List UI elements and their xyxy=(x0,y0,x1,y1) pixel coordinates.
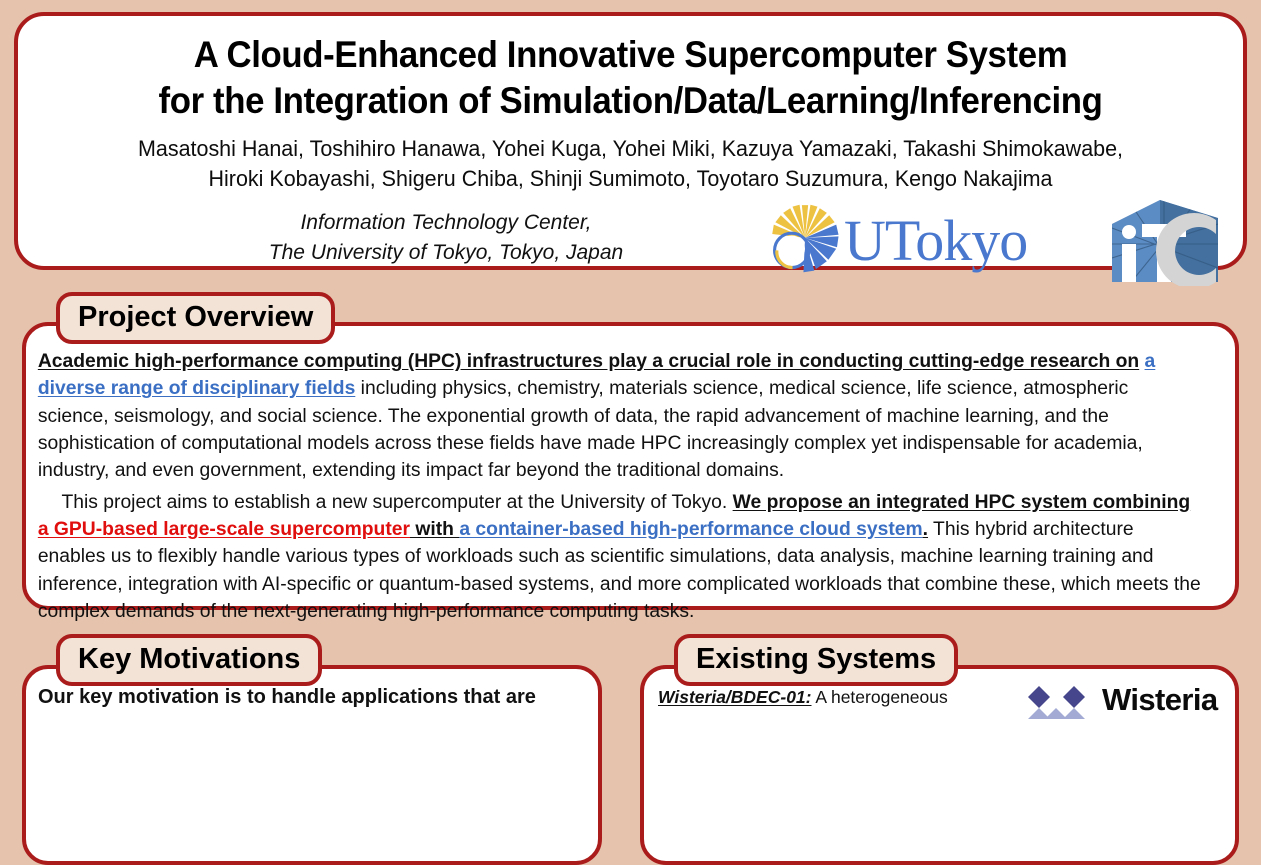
overview-p2-red: a GPU-based large-scale supercomputer xyxy=(38,518,410,540)
title-line-2: for the Integration of Simulation/Data/L… xyxy=(72,78,1190,124)
poster-root: A Cloud-Enhanced Innovative Supercompute… xyxy=(0,0,1261,720)
utokyo-logo: UTokyo xyxy=(766,202,1086,284)
header-panel: A Cloud-Enhanced Innovative Supercompute… xyxy=(14,12,1247,270)
existing-system-name: Wisteria/BDEC-01: xyxy=(658,687,812,707)
overview-p2-blue: a container-based high-performance cloud… xyxy=(459,518,922,540)
overview-p2-bold-2: with xyxy=(410,518,459,540)
section-tab-project-overview: Project Overview xyxy=(56,292,335,344)
poster-title: A Cloud-Enhanced Innovative Supercompute… xyxy=(72,32,1190,124)
affiliation-line-2: The University of Tokyo, Tokyo, Japan xyxy=(166,238,726,268)
wisteria-wordmark: Wisteria xyxy=(1102,680,1218,720)
overview-p1-lead: Academic high-performance computing (HPC… xyxy=(38,350,1139,372)
section-tab-existing-systems: Existing Systems xyxy=(674,634,958,686)
overview-paragraph-1: Academic high-performance computing (HPC… xyxy=(38,348,1203,485)
motivations-line-1: Our key motivation is to handle applicat… xyxy=(38,686,536,708)
itc-logo xyxy=(1098,198,1228,286)
affiliation-line-1: Information Technology Center, xyxy=(166,208,726,238)
existing-systems-panel: Wisteria/BDEC-01: A heterogeneous Wister… xyxy=(640,665,1239,865)
overview-p2-lead: This project aims to establish a new sup… xyxy=(61,491,732,513)
affiliation-row: Information Technology Center, The Unive… xyxy=(18,208,1243,284)
key-motivations-panel: Our key motivation is to handle applicat… xyxy=(22,665,602,865)
itc-cube-icon xyxy=(1098,198,1228,286)
project-overview-panel: Academic high-performance computing (HPC… xyxy=(22,322,1239,610)
project-overview-body: Academic high-performance computing (HPC… xyxy=(26,326,1217,625)
utokyo-ginkgo-icon xyxy=(766,202,844,280)
utokyo-wordmark: UTokyo xyxy=(844,204,1027,278)
wisteria-logo: Wisteria xyxy=(1024,681,1229,727)
existing-system-desc: A heterogeneous xyxy=(812,687,948,707)
overview-p2-bold-1: We propose an integrated HPC system comb… xyxy=(733,491,1191,513)
title-line-1: A Cloud-Enhanced Innovative Supercompute… xyxy=(72,32,1190,78)
overview-paragraph-2: This project aims to establish a new sup… xyxy=(38,489,1203,626)
section-tab-key-motivations: Key Motivations xyxy=(56,634,322,686)
authors-line-1: Masatoshi Hanai, Toshihiro Hanawa, Yohei… xyxy=(65,134,1197,164)
wisteria-diamond-icon xyxy=(1024,685,1098,719)
author-list: Masatoshi Hanai, Toshihiro Hanawa, Yohei… xyxy=(65,134,1197,194)
affiliation: Information Technology Center, The Unive… xyxy=(166,208,726,268)
authors-line-2: Hiroki Kobayashi, Shigeru Chiba, Shinji … xyxy=(65,164,1197,194)
